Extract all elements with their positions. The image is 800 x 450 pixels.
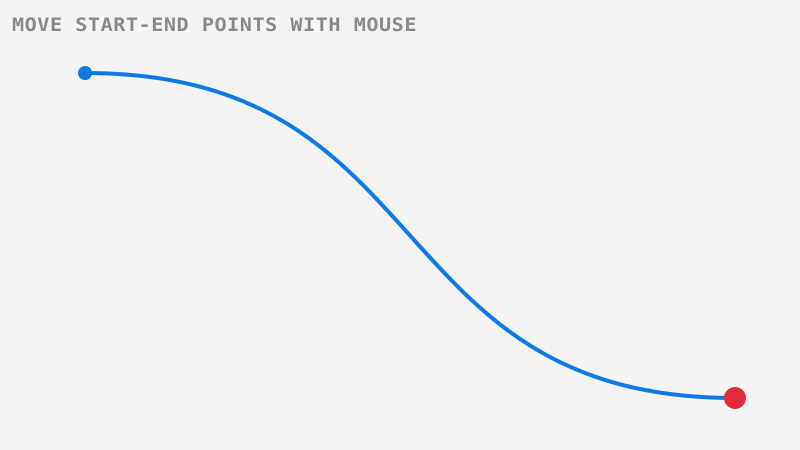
bezier-curve-demo: MOVE START-END POINTS WITH MOUSE [0, 0, 800, 450]
bezier-curve-path [85, 73, 735, 398]
page-title: MOVE START-END POINTS WITH MOUSE [12, 13, 417, 37]
end-point-handle[interactable] [724, 387, 746, 409]
curve-canvas[interactable] [0, 0, 800, 450]
start-point-handle[interactable] [78, 66, 92, 80]
